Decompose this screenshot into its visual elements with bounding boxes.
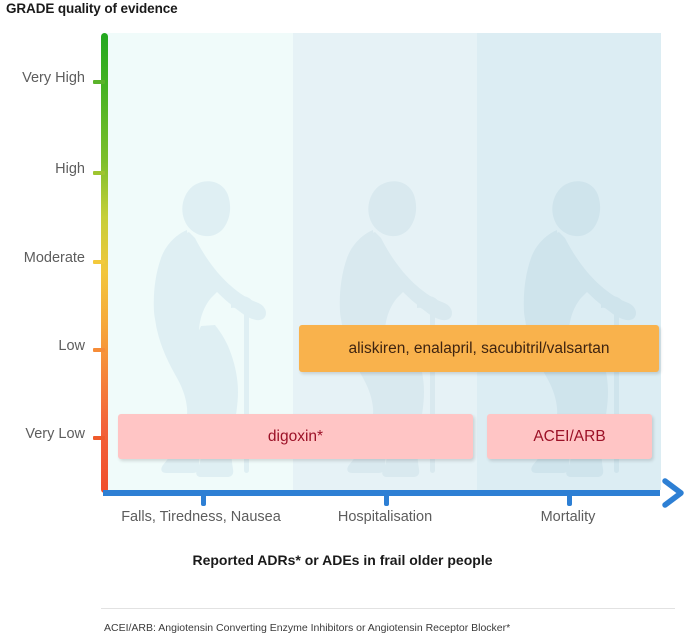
y-tick-low: [93, 348, 105, 352]
footnote-text: ACEI/ARB: Angiotensin Converting Enzyme …: [104, 622, 510, 634]
x-label-hospitalisation: Hospitalisation: [290, 509, 480, 525]
evidence-box-aliskiren-enalapril-sacubitril-valsartan[interactable]: aliskiren, enalapril, sacubitril/valsart…: [299, 325, 659, 372]
x-axis-line: [103, 490, 660, 496]
evidence-box-digoxin[interactable]: digoxin*: [118, 414, 473, 459]
y-label-very-low: Very Low: [0, 426, 85, 442]
y-tick-very-low: [93, 436, 105, 440]
x-tick-3: [567, 496, 572, 506]
page-title: GRADE quality of evidence: [6, 1, 178, 16]
y-tick-very-high: [93, 80, 105, 84]
y-label-very-high: Very High: [0, 70, 85, 86]
evidence-box-acei-arb[interactable]: ACEI/ARB: [487, 414, 652, 459]
y-label-moderate: Moderate: [0, 250, 85, 266]
y-tick-high: [93, 171, 105, 175]
x-axis-caption: Reported ADRs* or ADEs in frail older pe…: [0, 552, 685, 568]
footnote-divider: [101, 608, 675, 609]
arrow-right-icon: [655, 477, 685, 509]
y-tick-moderate: [93, 260, 105, 264]
x-tick-2: [384, 496, 389, 506]
x-label-mortality: Mortality: [473, 509, 663, 525]
y-label-low: Low: [0, 338, 85, 354]
y-label-high: High: [0, 161, 85, 177]
x-tick-1: [201, 496, 206, 506]
x-label-falls-tiredness-nausea: Falls, Tiredness, Nausea: [106, 509, 296, 525]
